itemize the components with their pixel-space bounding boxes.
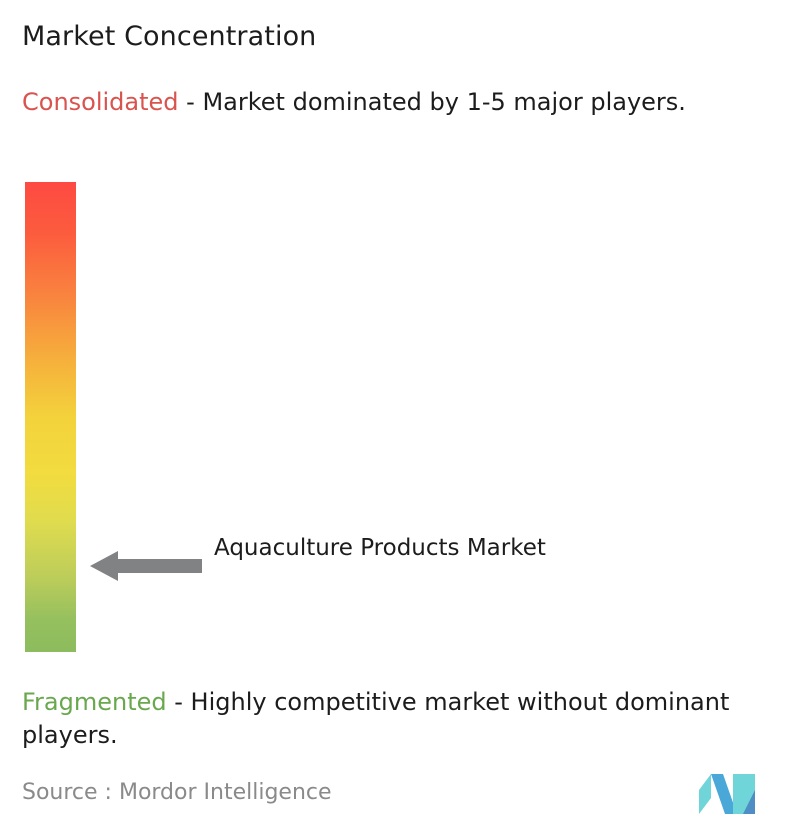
mordor-intelligence-logo (697, 770, 759, 816)
legend-term-consolidated: Consolidated (22, 88, 179, 116)
legend-description-consolidated: - Market dominated by 1-5 major players. (179, 88, 686, 116)
concentration-gradient-bar (25, 182, 76, 652)
market-concentration-chart: Market Concentration Consolidated - Mark… (0, 0, 796, 834)
page-title: Market Concentration (22, 20, 316, 54)
legend-term-fragmented: Fragmented (22, 688, 167, 716)
legend-consolidated: Consolidated - Market dominated by 1-5 m… (22, 86, 778, 119)
arrow-left-icon (90, 549, 202, 583)
source-attribution: Source : Mordor Intelligence (22, 778, 332, 808)
legend-fragmented: Fragmented - Highly competitive market w… (22, 686, 778, 752)
market-pointer-label: Aquaculture Products Market (214, 531, 574, 565)
